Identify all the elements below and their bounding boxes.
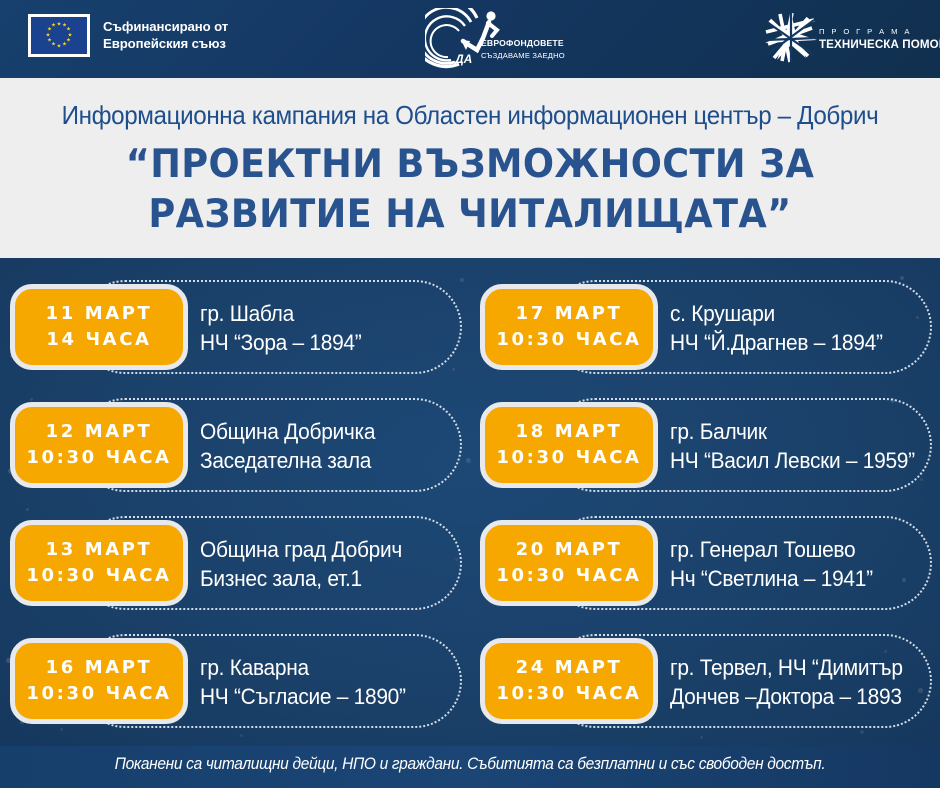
event-place-line1: с. Крушари bbox=[670, 299, 915, 328]
event-date-badge[interactable]: 11 МАРТ14 ЧАСА bbox=[10, 284, 188, 370]
eu-label-line2: Европейския съюз bbox=[103, 36, 228, 53]
technical-assistance-label: П Р О Г Р А М А ТЕХНИЧЕСКА ПОМОЩ bbox=[819, 27, 940, 51]
eu-label-line1: Съфинансирано от bbox=[103, 19, 228, 36]
eu-star-icon: ★ bbox=[51, 23, 56, 28]
event-date: 12 МАРТ bbox=[46, 419, 153, 445]
event-card[interactable]: 12 МАРТ10:30 ЧАСАОбщина ДобричкаЗаседате… bbox=[10, 398, 462, 492]
event-place-line2: НЧ “Васил Левски – 1959” bbox=[670, 446, 915, 475]
event-card[interactable]: 13 МАРТ10:30 ЧАСАОбщина град ДобричБизне… bbox=[10, 516, 462, 610]
eurofunds-prefix: ДА bbox=[455, 52, 472, 66]
event-place-line2: НЧ “Зора – 1894” bbox=[200, 328, 445, 357]
eu-star-icon: ★ bbox=[47, 38, 52, 43]
event-date-badge[interactable]: 12 МАРТ10:30 ЧАСА bbox=[10, 402, 188, 488]
event-date-badge[interactable]: 18 МАРТ10:30 ЧАСА bbox=[480, 402, 658, 488]
event-place: гр. Тервел, НЧ “ДимитърДончев –Доктора –… bbox=[670, 653, 928, 711]
page-title: “ПРОЕКТНИ ВЪЗМОЖНОСТИ ЗА РАЗВИТИЕ НА ЧИТ… bbox=[55, 140, 886, 240]
event-time: 10:30 ЧАСА bbox=[496, 445, 641, 471]
eu-star-icon: ★ bbox=[57, 44, 62, 49]
event-date: 20 МАРТ bbox=[516, 537, 623, 563]
event-card[interactable]: 20 МАРТ10:30 ЧАСАгр. Генерал ТошевоНч “С… bbox=[480, 516, 932, 610]
event-place: Община град ДобричБизнес зала, ет.1 bbox=[200, 535, 458, 593]
event-place-line2: Дончев –Доктора – 1893 bbox=[670, 682, 915, 711]
event-place: Община ДобричкаЗаседателна зала bbox=[200, 417, 458, 475]
events-section: 11 МАРТ14 ЧАСАгр. ШаблаНЧ “Зора – 1894”1… bbox=[0, 258, 940, 746]
title-panel: Информационна кампания на Областен инфор… bbox=[0, 78, 940, 258]
event-place-line2: НЧ “Й.Драгнев – 1894” bbox=[670, 328, 915, 357]
event-date: 17 МАРТ bbox=[516, 301, 623, 327]
event-date-badge[interactable]: 20 МАРТ10:30 ЧАСА bbox=[480, 520, 658, 606]
event-place-line1: Община Добричка bbox=[200, 417, 445, 446]
event-date: 16 МАРТ bbox=[46, 655, 153, 681]
event-place-line1: гр. Тервел, НЧ “Димитър bbox=[670, 653, 915, 682]
event-place-line1: гр. Каварна bbox=[200, 653, 445, 682]
event-place-line1: Община град Добрич bbox=[200, 535, 445, 564]
logo-bar: ★★★★★★★★★★★★ Съфинансирано от Европейски… bbox=[0, 0, 940, 78]
footer-bar: Поканени са читалищни дейци, НПО и гражд… bbox=[0, 746, 940, 788]
event-card[interactable]: 18 МАРТ10:30 ЧАСАгр. БалчикНЧ “Васил Лев… bbox=[480, 398, 932, 492]
event-grid: 11 МАРТ14 ЧАСАгр. ШаблаНЧ “Зора – 1894”1… bbox=[0, 258, 940, 746]
event-time: 10:30 ЧАСА bbox=[26, 563, 171, 589]
event-time: 10:30 ЧАСА bbox=[496, 681, 641, 707]
event-place-line1: гр. Балчик bbox=[670, 417, 915, 446]
event-date-badge[interactable]: 24 МАРТ10:30 ЧАСА bbox=[480, 638, 658, 724]
event-place-line2: НЧ “Съгласие – 1890” bbox=[200, 682, 445, 711]
event-place-line2: Нч “Светлина – 1941” bbox=[670, 564, 915, 593]
ta-label-line2: ТЕХНИЧЕСКА ПОМОЩ bbox=[819, 38, 940, 51]
event-card[interactable]: 16 МАРТ10:30 ЧАСАгр. КаварнаНЧ “Съгласие… bbox=[10, 634, 462, 728]
technical-assistance-logo: П Р О Г Р А М А ТЕХНИЧЕСКА ПОМОЩ bbox=[762, 10, 922, 68]
event-time: 10:30 ЧАСА bbox=[26, 681, 171, 707]
event-place-line2: Бизнес зала, ет.1 bbox=[200, 564, 445, 593]
event-date: 24 МАРТ bbox=[516, 655, 623, 681]
eu-star-icon: ★ bbox=[57, 22, 62, 27]
event-time: 14 ЧАСА bbox=[46, 327, 151, 353]
event-place-line1: гр. Генерал Тошево bbox=[670, 535, 915, 564]
event-card[interactable]: 17 МАРТ10:30 ЧАСАс. КрушариНЧ “Й.Драгнев… bbox=[480, 280, 932, 374]
event-place-line1: гр. Шабла bbox=[200, 299, 445, 328]
event-card[interactable]: 11 МАРТ14 ЧАСАгр. ШаблаНЧ “Зора – 1894” bbox=[10, 280, 462, 374]
event-date-badge[interactable]: 16 МАРТ10:30 ЧАСА bbox=[10, 638, 188, 724]
eurofunds-label: ЕВРОФОНДОВЕТЕ СЪЗДАВАМЕ ЗАЕДНО bbox=[481, 38, 565, 60]
event-place: с. КрушариНЧ “Й.Драгнев – 1894” bbox=[670, 299, 928, 357]
event-place: гр. Генерал ТошевоНч “Светлина – 1941” bbox=[670, 535, 928, 593]
ta-label-line1: П Р О Г Р А М А bbox=[819, 27, 940, 36]
event-date: 11 МАРТ bbox=[46, 301, 153, 327]
event-date: 13 МАРТ bbox=[46, 537, 153, 563]
campaign-subtitle: Информационна кампания на Областен инфор… bbox=[33, 100, 907, 131]
eurofunds-logo: ДА ЕВРОФОНДОВЕТЕ СЪЗДАВАМЕ ЗАЕДНО bbox=[425, 8, 555, 70]
event-place: гр. БалчикНЧ “Васил Левски – 1959” bbox=[670, 417, 928, 475]
eu-cofunding-logo: ★★★★★★★★★★★★ Съфинансирано от Европейски… bbox=[28, 14, 228, 57]
event-time: 10:30 ЧАСА bbox=[26, 445, 171, 471]
eu-star-icon: ★ bbox=[46, 33, 51, 38]
event-place-line2: Заседателна зала bbox=[200, 446, 445, 475]
event-time: 10:30 ЧАСА bbox=[496, 563, 641, 589]
event-date-badge[interactable]: 17 МАРТ10:30 ЧАСА bbox=[480, 284, 658, 370]
event-time: 10:30 ЧАСА bbox=[496, 327, 641, 353]
event-card[interactable]: 24 МАРТ10:30 ЧАСАгр. Тервел, НЧ “Димитър… bbox=[480, 634, 932, 728]
technical-assistance-star-icon bbox=[762, 10, 820, 66]
event-date-badge[interactable]: 13 МАРТ10:30 ЧАСА bbox=[10, 520, 188, 606]
eu-flag-icon: ★★★★★★★★★★★★ bbox=[28, 14, 90, 57]
event-date: 18 МАРТ bbox=[516, 419, 623, 445]
event-place: гр. КаварнаНЧ “Съгласие – 1890” bbox=[200, 653, 458, 711]
event-place: гр. ШаблаНЧ “Зора – 1894” bbox=[200, 299, 458, 357]
eurofunds-label-line1: ЕВРОФОНДОВЕТЕ bbox=[481, 38, 565, 48]
eu-star-icon: ★ bbox=[62, 42, 67, 47]
footer-note: Поканени са читалищни дейци, НПО и гражд… bbox=[28, 755, 912, 774]
eurofunds-label-line2: СЪЗДАВАМЕ ЗАЕДНО bbox=[481, 51, 565, 60]
eu-cofunding-label: Съфинансирано от Европейския съюз bbox=[103, 19, 228, 52]
